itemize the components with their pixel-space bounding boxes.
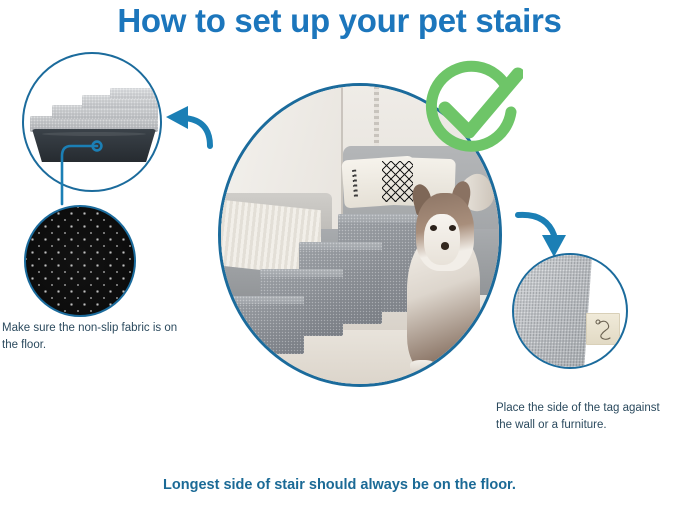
curved-arrow-left-icon (160, 100, 218, 150)
dog-face-mask (424, 214, 460, 265)
caption-left: Make sure the non-slip fabric is on the … (2, 320, 192, 353)
footer-note: Longest side of stair should always be o… (0, 477, 679, 493)
brand-tag (586, 313, 620, 345)
callout-non-slip-fabric-circle (24, 205, 136, 317)
callout-stairs-base-circle (22, 52, 162, 192)
dog-paw-left (410, 360, 435, 372)
stair-side-fabric (512, 253, 592, 369)
infographic-page: How to set up your pet stairs Make sure … (0, 0, 679, 507)
callout-tag-circle (512, 253, 628, 369)
stairs-non-slip-base (32, 129, 156, 162)
page-title: How to set up your pet stairs (0, 2, 679, 40)
dog-eye-left (430, 225, 437, 231)
stairs-illustration (30, 88, 158, 162)
stairs-steps (30, 88, 158, 130)
pillow-zigzag-pattern (382, 161, 413, 203)
dog-nose (441, 242, 449, 249)
pet-stair-step-1 (221, 304, 304, 355)
step-4 (110, 88, 158, 99)
dog-eye-right (449, 225, 456, 231)
non-slip-dot-texture (26, 207, 134, 315)
check-circle-icon (419, 60, 523, 164)
brand-tag-logo-icon (587, 314, 621, 346)
caption-right: Place the side of the tag against the wa… (496, 400, 676, 433)
dog-paw-right (443, 363, 468, 375)
